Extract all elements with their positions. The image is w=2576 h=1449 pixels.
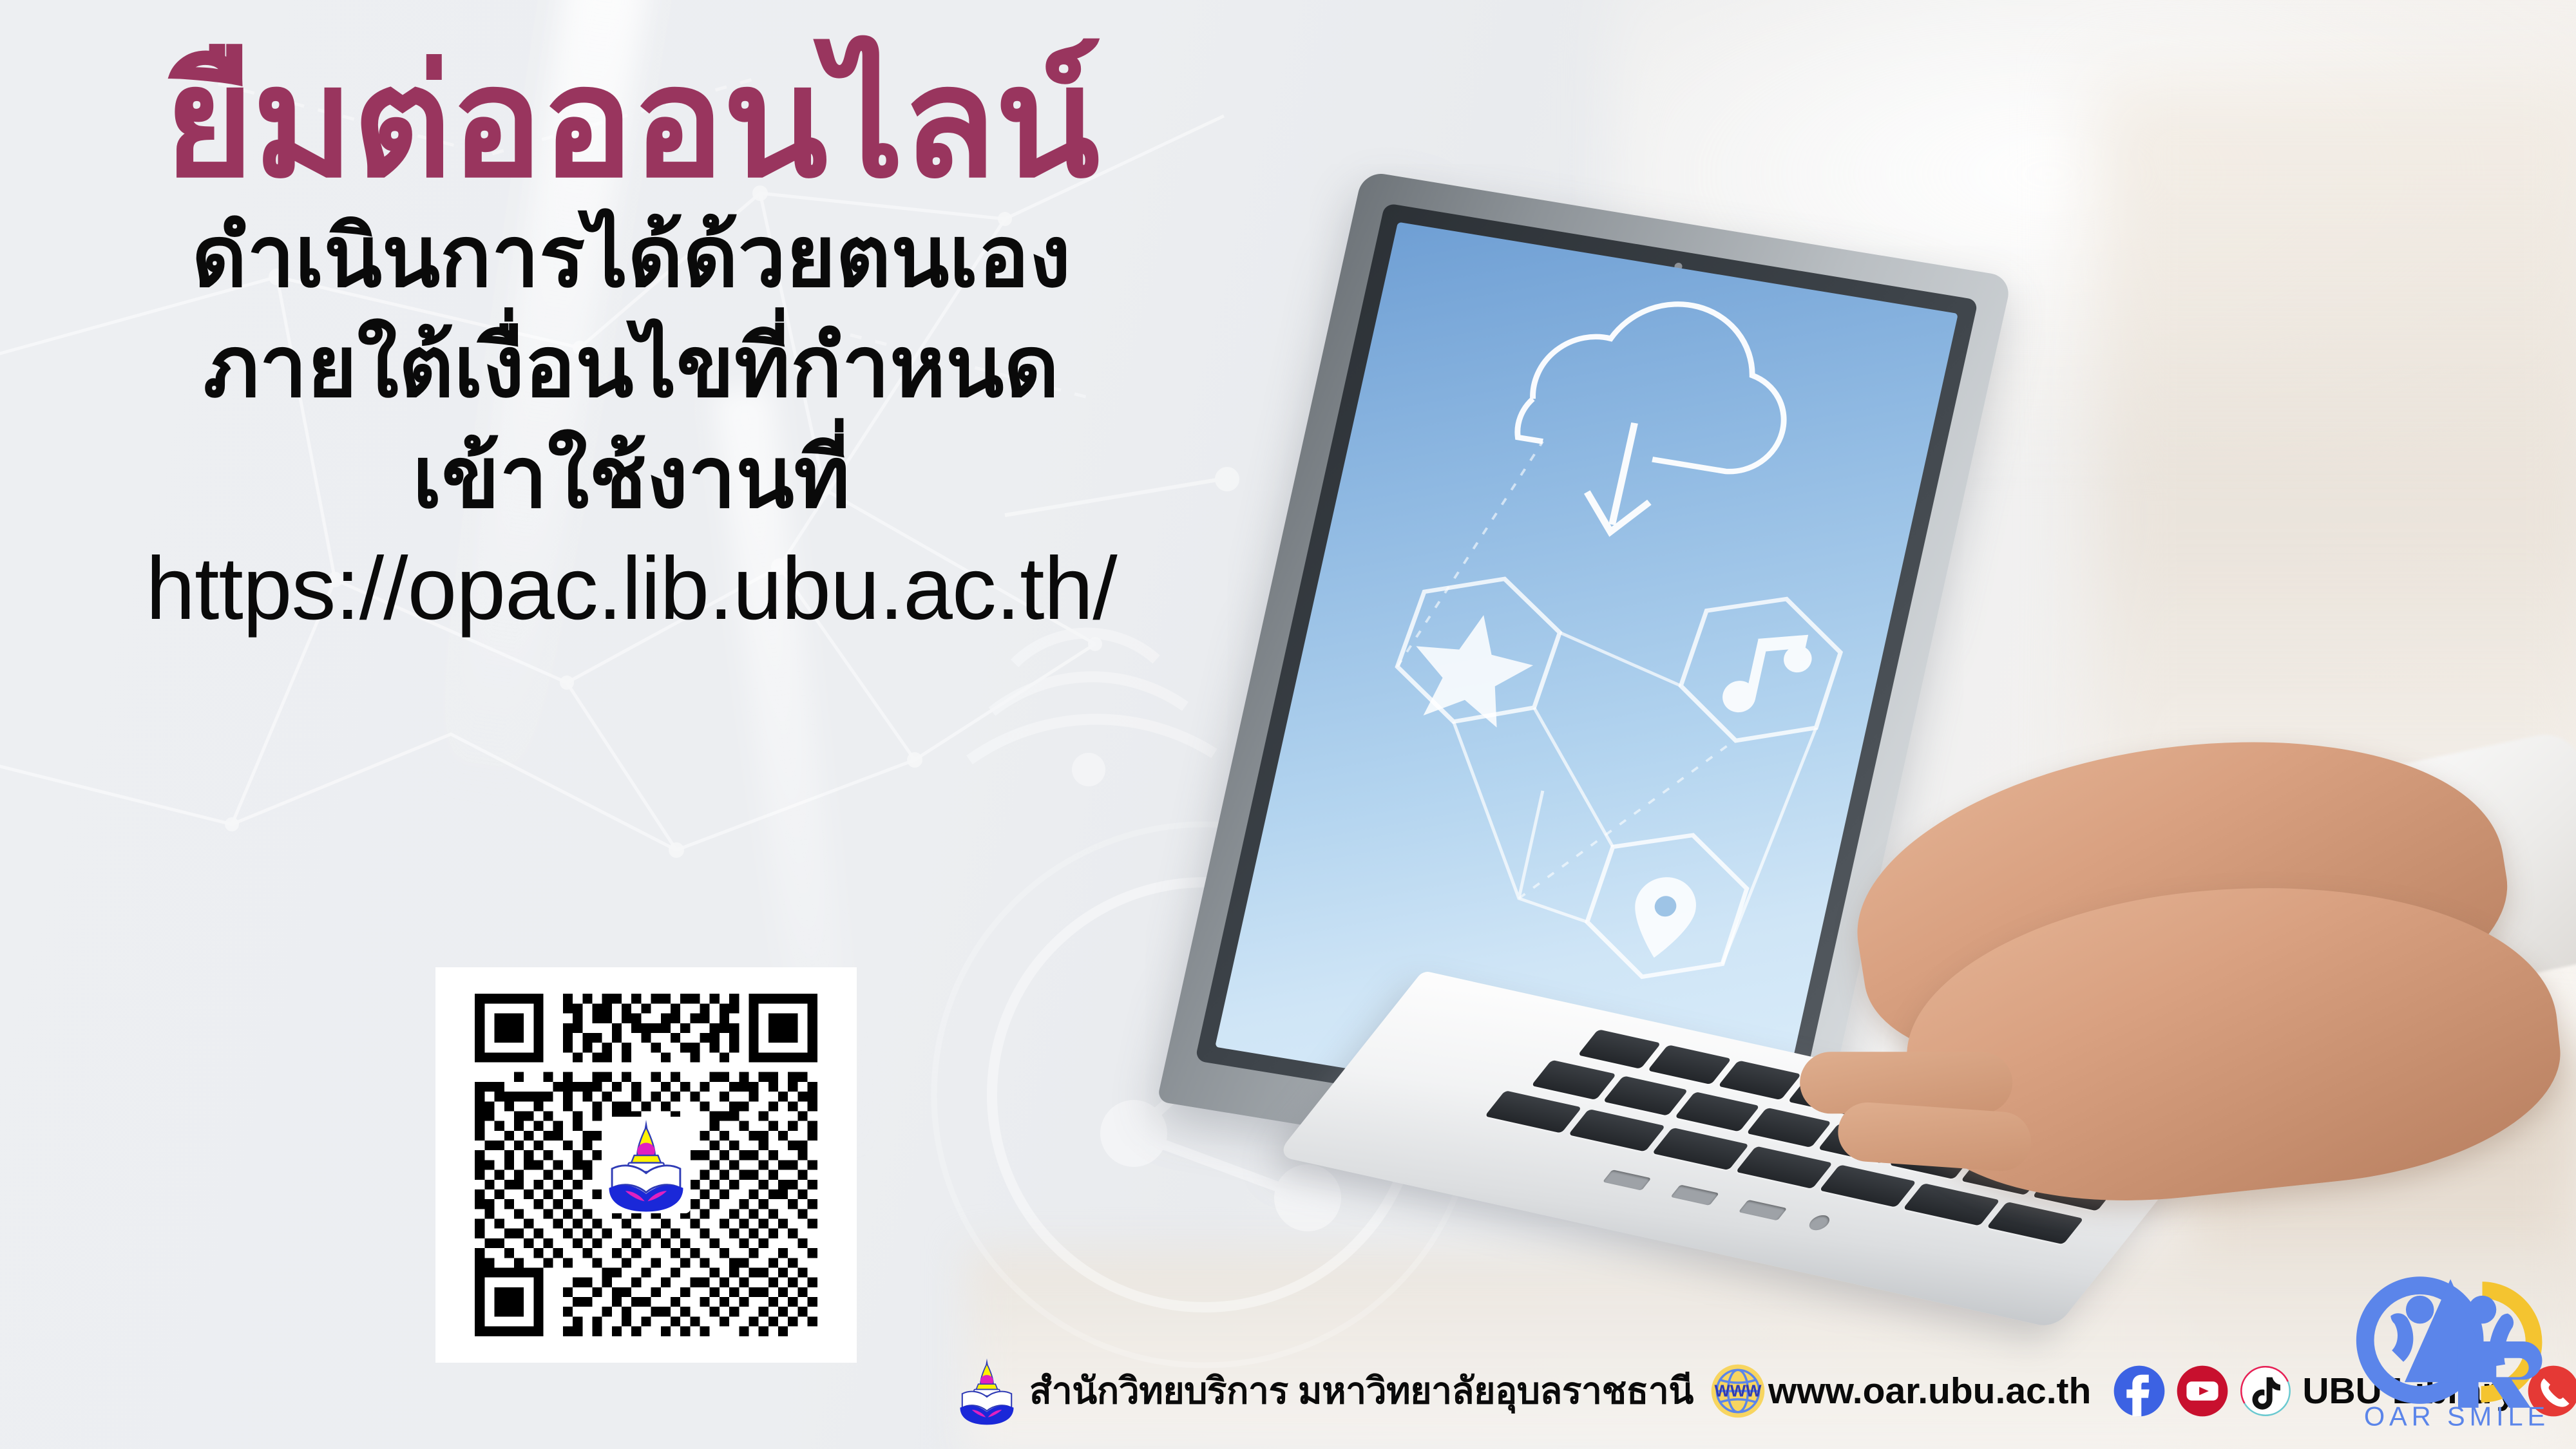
footer-website[interactable]: www.oar.ubu.ac.th: [1768, 1370, 2091, 1412]
page-title: ยืมต่อออนไลน์: [0, 45, 1263, 202]
svg-text:WWW: WWW: [1714, 1383, 1762, 1401]
tiktok-icon[interactable]: [2239, 1365, 2292, 1417]
footer-bar: สำนักวิทยบริการ มหาวิทยาลัยอุบลราชธานี W…: [953, 1349, 2576, 1433]
subtitle-line-1: ดำเนินการได้ด้วยตนเอง: [0, 202, 1263, 312]
subtitle-line-3: เข้าใช้งานที่: [0, 422, 1263, 533]
laptop-screen: [1215, 222, 1958, 1139]
poster-canvas: ยืมต่อออนไลน์ ดำเนินการได้ด้วยตนเอง ภายใ…: [0, 0, 2576, 1449]
facebook-icon[interactable]: [2113, 1365, 2166, 1417]
ubu-library-emblem-icon: [602, 1117, 691, 1213]
qr-center-logo: [602, 1117, 691, 1213]
youtube-icon[interactable]: [2176, 1365, 2229, 1417]
footer-organization: สำนักวิทยบริการ มหาวิทยาลัยอุบลราชธานี: [1029, 1362, 1693, 1420]
qr-code[interactable]: [435, 967, 857, 1363]
subtitle-line-2: ภายใต้เงื่อนไขที่กำหนด: [0, 312, 1263, 422]
globe-www-icon: WWW: [1710, 1363, 1766, 1419]
oar-smile-mark: OAR SMILE: [2349, 1253, 2565, 1435]
ubu-library-emblem-icon: [953, 1356, 1020, 1426]
oar-smile-wordmark: OAR SMILE: [2364, 1401, 2550, 1431]
opac-url[interactable]: https://opac.lib.ubu.ac.th/: [0, 533, 1263, 645]
text-column: ยืมต่อออนไลน์ ดำเนินการได้ด้วยตนเอง ภายใ…: [0, 45, 1263, 644]
oar-smile-logo: OAR SMILE: [2349, 1253, 2565, 1435]
